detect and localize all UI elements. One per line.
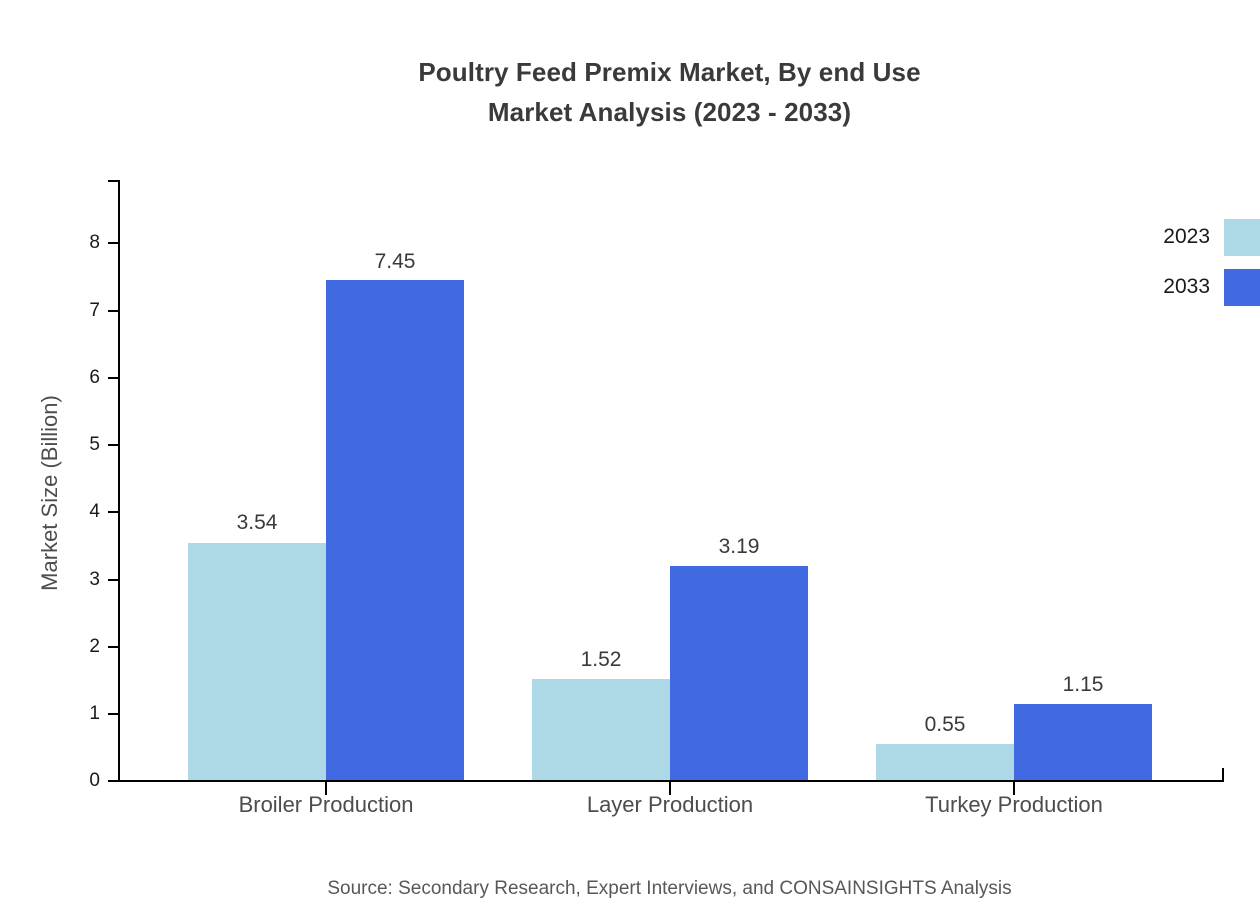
bar-2023-broiler-production[interactable] bbox=[188, 543, 326, 781]
x-axis-line bbox=[118, 780, 1224, 782]
bar-label-2023-broiler-production: 3.54 bbox=[177, 511, 337, 535]
bar-label-2033-turkey-production: 1.15 bbox=[1003, 673, 1163, 697]
y-tick-label-5: 5 bbox=[60, 434, 100, 456]
legend-label-2033: 2033 bbox=[1163, 275, 1210, 299]
bar-2023-layer-production[interactable] bbox=[532, 679, 670, 781]
bar-2033-layer-production[interactable] bbox=[670, 566, 808, 781]
y-tick-2 bbox=[108, 646, 120, 648]
bar-label-2033-broiler-production: 7.45 bbox=[315, 250, 475, 274]
y-tick-label-4: 4 bbox=[60, 501, 100, 523]
y-tick-7 bbox=[108, 310, 120, 312]
y-tick-label-1: 1 bbox=[60, 703, 100, 725]
legend-label-2023: 2023 bbox=[1163, 225, 1210, 249]
x-tick-label-turkey-production: Turkey Production bbox=[864, 792, 1164, 818]
bar-label-2023-turkey-production: 0.55 bbox=[865, 713, 1025, 737]
y-tick-label-8: 8 bbox=[60, 232, 100, 254]
legend-swatch-2023 bbox=[1224, 219, 1260, 256]
bar-label-2033-layer-production: 3.19 bbox=[659, 535, 819, 559]
y-axis-top-cap bbox=[108, 180, 120, 182]
y-tick-1 bbox=[108, 713, 120, 715]
y-tick-6 bbox=[108, 377, 120, 379]
legend-item-2023[interactable]: 2023 bbox=[1100, 216, 1260, 266]
y-tick-label-3: 3 bbox=[60, 569, 100, 591]
y-tick-label-2: 2 bbox=[60, 636, 100, 658]
legend-swatch-2033 bbox=[1224, 269, 1260, 306]
x-axis-right-cap bbox=[1222, 768, 1224, 782]
y-tick-8 bbox=[108, 242, 120, 244]
bar-2033-broiler-production[interactable] bbox=[326, 280, 464, 781]
chart-title-line-2: Market Analysis (2023 - 2033) bbox=[0, 92, 1260, 132]
y-tick-4 bbox=[108, 511, 120, 513]
x-tick-label-layer-production: Layer Production bbox=[520, 792, 820, 818]
y-axis-line bbox=[118, 180, 120, 782]
y-tick-label-0: 0 bbox=[60, 770, 100, 792]
y-tick-3 bbox=[108, 579, 120, 581]
chart-title-line-1: Poultry Feed Premix Market, By end Use bbox=[418, 57, 920, 87]
legend-item-2033[interactable]: 2033 bbox=[1100, 266, 1260, 316]
bar-label-2023-layer-production: 1.52 bbox=[521, 648, 681, 672]
y-tick-label-6: 6 bbox=[60, 367, 100, 389]
bar-2033-turkey-production[interactable] bbox=[1014, 704, 1152, 781]
chart-legend: 2023 2033 bbox=[1100, 216, 1260, 316]
bar-2023-turkey-production[interactable] bbox=[876, 744, 1014, 781]
y-tick-5 bbox=[108, 444, 120, 446]
chart-figure: Poultry Feed Premix Market, By end Use M… bbox=[0, 0, 1260, 920]
source-note: Source: Secondary Research, Expert Inter… bbox=[0, 878, 1260, 900]
x-tick-label-broiler-production: Broiler Production bbox=[176, 792, 476, 818]
chart-title: Poultry Feed Premix Market, By end Use M… bbox=[0, 52, 1260, 132]
y-tick-label-7: 7 bbox=[60, 300, 100, 322]
